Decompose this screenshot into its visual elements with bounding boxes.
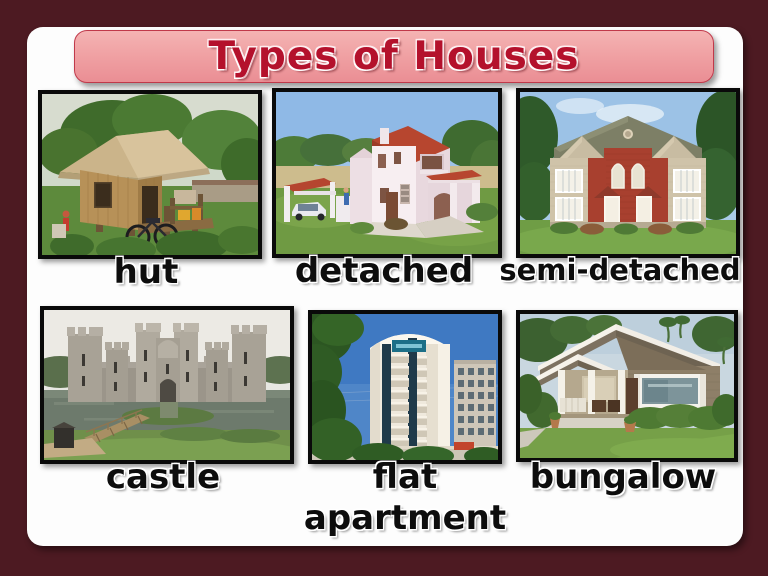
photo-frame-hut: [38, 90, 262, 259]
caption-semi-detached: semi-detached: [498, 256, 742, 286]
page-title: Types of Houses: [209, 34, 580, 79]
caption-hut: hut: [38, 255, 254, 290]
photo-frame-flat-apartment: [308, 310, 502, 464]
photo-frame-semi-detached: [516, 88, 740, 258]
caption-semi-detached-line-1: semi-detached: [498, 256, 742, 286]
caption-castle: castle: [40, 460, 286, 495]
bungalow-illustration: [520, 314, 734, 458]
detached-house-illustration: [276, 92, 498, 254]
caption-bungalow: bungalow: [510, 460, 736, 495]
apartment-tower-illustration: [312, 314, 498, 460]
title-banner: Types of Houses: [74, 30, 714, 83]
caption-detached: detached: [262, 254, 506, 289]
slide-canvas: Types of Houses: [0, 0, 768, 576]
caption-flat-apartment-line-2: apartment: [300, 501, 510, 536]
caption-flat-apartment: flat apartment: [300, 460, 510, 535]
hut-illustration: [42, 94, 258, 255]
caption-bungalow-line-1: bungalow: [510, 460, 736, 495]
photo-frame-bungalow: [516, 310, 738, 462]
castle-illustration: [44, 310, 290, 460]
photo-frame-detached: [272, 88, 502, 258]
caption-detached-line-1: detached: [262, 254, 506, 289]
caption-flat-apartment-line-1: flat: [300, 460, 510, 495]
caption-castle-line-1: castle: [40, 460, 286, 495]
semi-detached-house-illustration: [520, 92, 736, 254]
photo-frame-castle: [40, 306, 294, 464]
caption-hut-line-1: hut: [38, 255, 254, 290]
